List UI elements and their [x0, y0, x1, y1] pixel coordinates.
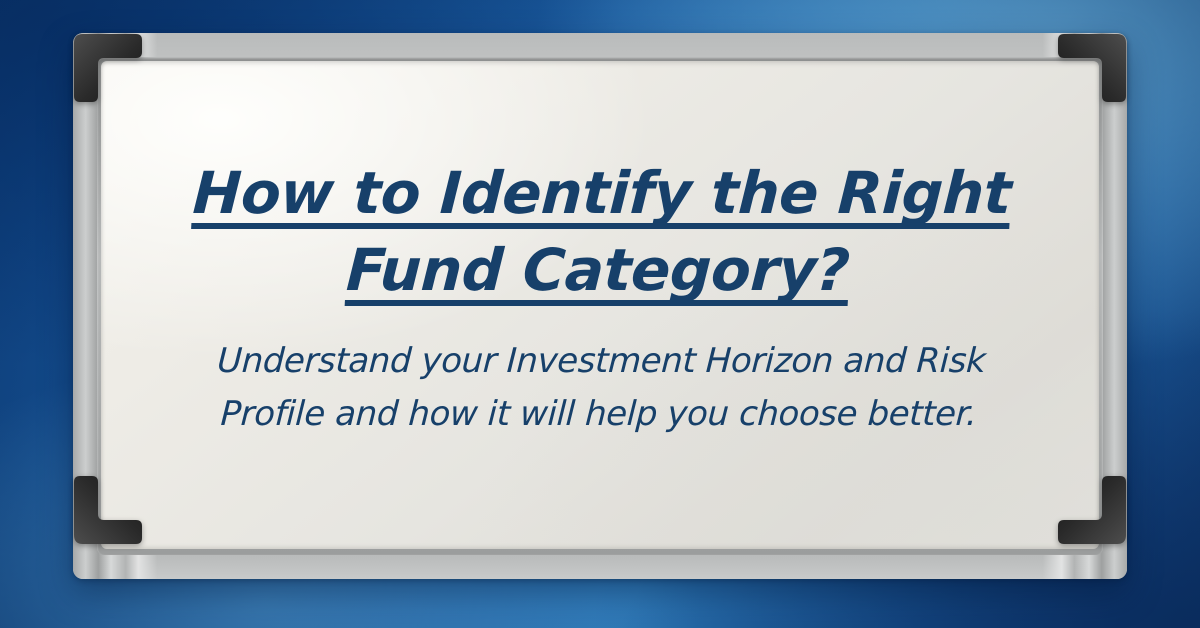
slide-text-block: How to Identify the Right Fund Category?… — [101, 61, 1099, 549]
slide-canvas: How to Identify the Right Fund Category?… — [0, 0, 1200, 628]
page-subtitle: Understand your Investment Horizon and R… — [202, 335, 998, 441]
page-title: How to Identify the Right Fund Category? — [176, 155, 1024, 309]
